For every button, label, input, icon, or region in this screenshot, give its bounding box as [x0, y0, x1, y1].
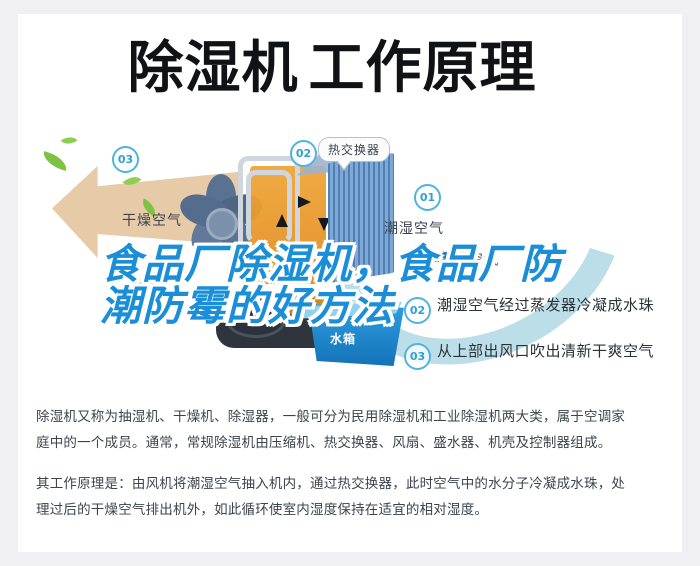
page-root: 除湿机工作原理 水箱: [0, 0, 700, 566]
title-part-one: 除湿机: [128, 36, 299, 101]
diagram-badge-03: 03: [112, 146, 139, 173]
overlay-line-1-a: 食品厂除湿机，: [100, 240, 394, 288]
legend-item: 03 从上部出风口吹出清新干爽空气: [404, 342, 674, 370]
heat-exchanger-callout: 热交换器: [318, 137, 390, 162]
leaf-icon: [41, 151, 70, 171]
flow-arrow-up-icon: [276, 214, 288, 227]
moist-air-label: 潮湿空气: [384, 218, 444, 238]
title-part-two: 工作原理: [309, 36, 537, 101]
body-paragraph-2: 其工作原理是：由风机将潮湿空气抽入机内，通过热交换器，此时空气中的水分子冷凝成水…: [36, 471, 634, 524]
body-paragraph-1: 除湿机又称为抽湿机、干燥机、除湿器，一般可分为民用除湿机和工业除湿机两大类，属于…: [36, 404, 634, 457]
legend-text-03: 从上部出风口吹出清新干爽空气: [437, 342, 654, 360]
water-tank-label: 水箱: [330, 330, 356, 347]
fan-hub: [206, 208, 238, 240]
leaf-icon: [61, 133, 78, 148]
overlay-line-1: 食品厂除湿机，食品厂防: [100, 244, 570, 286]
overlay-headline: 食品厂除湿机，食品厂防 潮防霉的好方法: [100, 244, 570, 328]
diagram-badge-02: 02: [290, 140, 317, 167]
dry-air-label: 干燥空气: [122, 210, 182, 230]
diagram-badge-01: 01: [414, 184, 441, 211]
article-body: 除湿机又称为抽湿机、干燥机、除湿器，一般可分为民用除湿机和工业除湿机两大类，属于…: [36, 404, 634, 537]
flow-arrow-right-icon: [298, 196, 311, 208]
page-title: 除湿机工作原理: [0, 26, 664, 112]
overlay-line-2: 潮防霉的好方法: [100, 286, 570, 328]
legend-badge-03: 03: [404, 343, 431, 370]
overlay-line-1-b: 食品厂防: [394, 240, 562, 288]
refrigerant-pipe: [246, 170, 292, 244]
